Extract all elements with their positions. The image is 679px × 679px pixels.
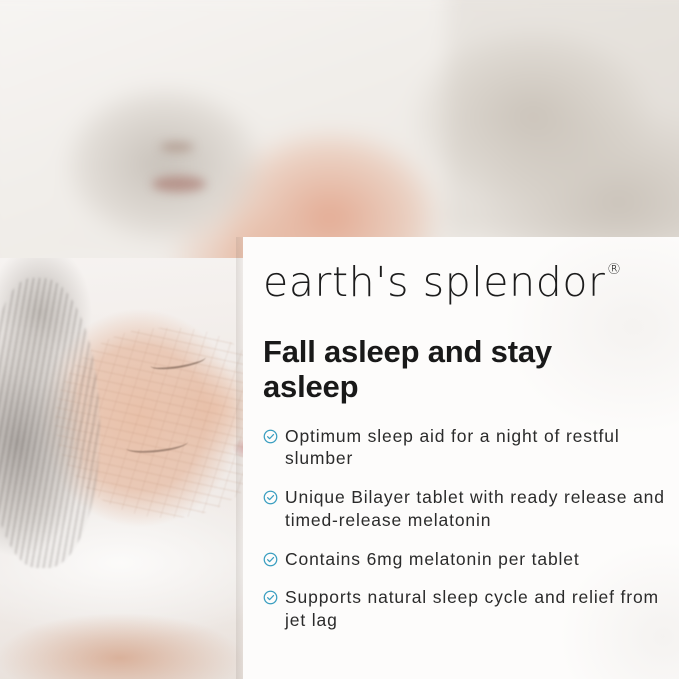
info-panel: earth's splendor® Fall asleep and stay a… <box>243 237 679 679</box>
man-mouth-detail <box>152 176 206 192</box>
list-item-label: Contains 6mg melatonin per tablet <box>285 548 580 571</box>
list-item-label: Optimum sleep aid for a night of restful… <box>285 425 669 471</box>
check-circle-icon <box>263 590 278 605</box>
product-lifestyle-image: earth's splendor® Fall asleep and stay a… <box>0 0 679 679</box>
headline: Fall asleep and stay asleep <box>263 334 638 405</box>
list-item: Contains 6mg melatonin per tablet <box>263 548 669 571</box>
registered-trademark-icon: ® <box>607 260 622 278</box>
list-item-label: Unique Bilayer tablet with ready release… <box>285 486 669 532</box>
list-item: Supports natural sleep cycle and relief … <box>263 586 669 632</box>
benefits-list: Optimum sleep aid for a night of restful… <box>263 425 669 632</box>
check-circle-icon <box>263 490 278 505</box>
brand-name: earth's splendor <box>263 258 606 306</box>
list-item: Unique Bilayer tablet with ready release… <box>263 486 669 532</box>
check-circle-icon <box>263 552 278 567</box>
list-item-label: Supports natural sleep cycle and relief … <box>285 586 669 632</box>
list-item: Optimum sleep aid for a night of restful… <box>263 425 669 471</box>
man-eye-detail <box>160 142 194 152</box>
brand-wordmark: earth's splendor® <box>263 261 669 304</box>
check-circle-icon <box>263 429 278 444</box>
